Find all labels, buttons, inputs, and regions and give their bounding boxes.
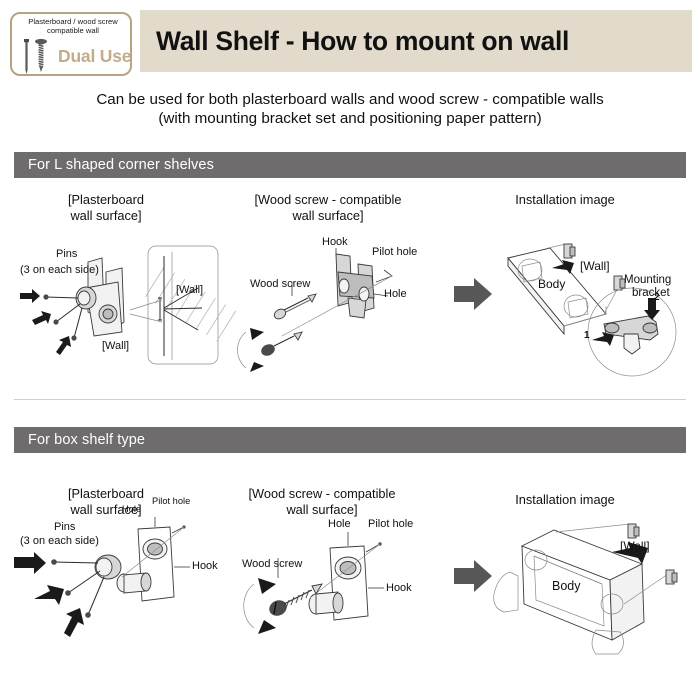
pin-hub [95, 555, 121, 579]
column-title-installation-1: Installation image [470, 192, 660, 208]
page-header: Plasterboard / wood screw compatible wal… [0, 10, 700, 78]
push-arrow-icons [14, 552, 84, 637]
label-wood-screw: Wood screw [250, 278, 310, 291]
section-heading-text: For L shaped corner shelves [14, 157, 214, 173]
badge-dual-use-label: Dual Use [58, 36, 131, 76]
label-pins: Pins [56, 248, 77, 261]
wall-inset-panel [145, 246, 235, 364]
label-wall-right: [Wall] [620, 540, 650, 553]
column-title-plasterboard-1: [Plasterboard wall surface] [16, 192, 196, 224]
label-hole-mid: Hole [328, 518, 351, 531]
title-band: Wall Shelf - How to mount on wall [140, 10, 692, 72]
column-title-installation-2: Installation image [470, 492, 660, 508]
badge-icon-group [12, 36, 58, 76]
label-wood-screw: Wood screw [242, 558, 302, 571]
diagram-woodscrew-hook-l: Hook Pilot hole Wood screw Hole [232, 236, 447, 386]
label-hook-left: Hook [192, 560, 218, 573]
badge-caption-line2: compatible wall [12, 27, 134, 36]
section-divider [14, 399, 686, 400]
subtitle-line2: (with mounting bracket set and positioni… [0, 109, 700, 128]
column-title-line2: wall surface] [16, 208, 196, 224]
pin-icon [24, 39, 29, 74]
label-pilot-hole: Pilot hole [372, 246, 417, 259]
column-title-line1: [Wood screw - compatible [228, 192, 428, 208]
column-title-line1: [Wood screw - compatible [222, 486, 422, 502]
hook-plate [309, 546, 368, 620]
hook-plate [117, 527, 174, 601]
label-step-2: 2 [654, 292, 660, 305]
label-wall-inset: [Wall] [176, 284, 203, 297]
wood-screw-lower [237, 328, 302, 372]
wood-screw-upper [273, 294, 316, 321]
column-title-line1: Installation image [470, 492, 660, 508]
column-title-line1: Installation image [470, 192, 660, 208]
diagram-installation-l: [Wall] Body Mounting bracket 1 2 [452, 236, 700, 386]
label-pilot-hole-left: Pilot hole [152, 495, 190, 508]
screw-icon [35, 39, 47, 72]
label-hole-left: Hole [122, 503, 141, 516]
label-hook: Hook [322, 236, 348, 249]
diagram-plasterboard-pins-l: Pins (3 on each side) [Wall] [Wall] [12, 236, 227, 386]
page-subtitle: Can be used for both plasterboard walls … [0, 90, 700, 128]
label-pins-note: (3 on each side) [20, 535, 99, 548]
label-mounting-bracket-line2: bracket [632, 287, 670, 300]
label-body: Body [538, 278, 565, 291]
badge-body: Dual Use [12, 36, 134, 76]
diagram-woodscrew-hook-box: Hole Pilot hole Wood screw Hook [234, 516, 452, 666]
next-step-arrow-icon [454, 278, 492, 310]
column-title-line2: wall surface] [228, 208, 428, 224]
column-title-line1: [Plasterboard [16, 192, 196, 208]
label-wall-left: [Wall] [102, 340, 129, 353]
page-title: Wall Shelf - How to mount on wall [140, 26, 569, 57]
column-title-woodscrew-2: [Wood screw - compatible wall surface] [222, 486, 422, 518]
badge-caption: Plasterboard / wood screw compatible wal… [12, 18, 134, 35]
label-pins-note: (3 on each side) [20, 264, 99, 277]
label-mounting-bracket-line1: Mounting [624, 274, 671, 287]
column-title-woodscrew-1: [Wood screw - compatible wall surface] [228, 192, 428, 224]
next-step-arrow-icon [454, 560, 492, 592]
hook-plate [336, 254, 374, 318]
subtitle-line1: Can be used for both plasterboard walls … [0, 90, 700, 109]
label-pilot-hole-mid: Pilot hole [368, 518, 413, 531]
mounting-bracket-detail [588, 288, 676, 376]
section-heading-text: For box shelf type [14, 432, 145, 448]
wall-bracket-bottom [604, 276, 625, 314]
diagram-installation-box: [Wall] Body [452, 518, 700, 668]
label-body: Body [552, 580, 581, 593]
label-hole: Hole [384, 288, 407, 301]
label-pins: Pins [54, 521, 75, 534]
section-header-box-shelf: For box shelf type [14, 427, 686, 453]
diagram-plasterboard-pins-box: Pins (3 on each side) Hole Pilot hole Ho… [12, 505, 230, 655]
dual-use-badge: Plasterboard / wood screw compatible wal… [10, 12, 132, 76]
section-header-l-shaped: For L shaped corner shelves [14, 152, 686, 178]
label-step-1: 1 [584, 330, 590, 343]
label-hook-mid: Hook [386, 582, 412, 595]
label-wall-right: [Wall] [580, 260, 610, 273]
